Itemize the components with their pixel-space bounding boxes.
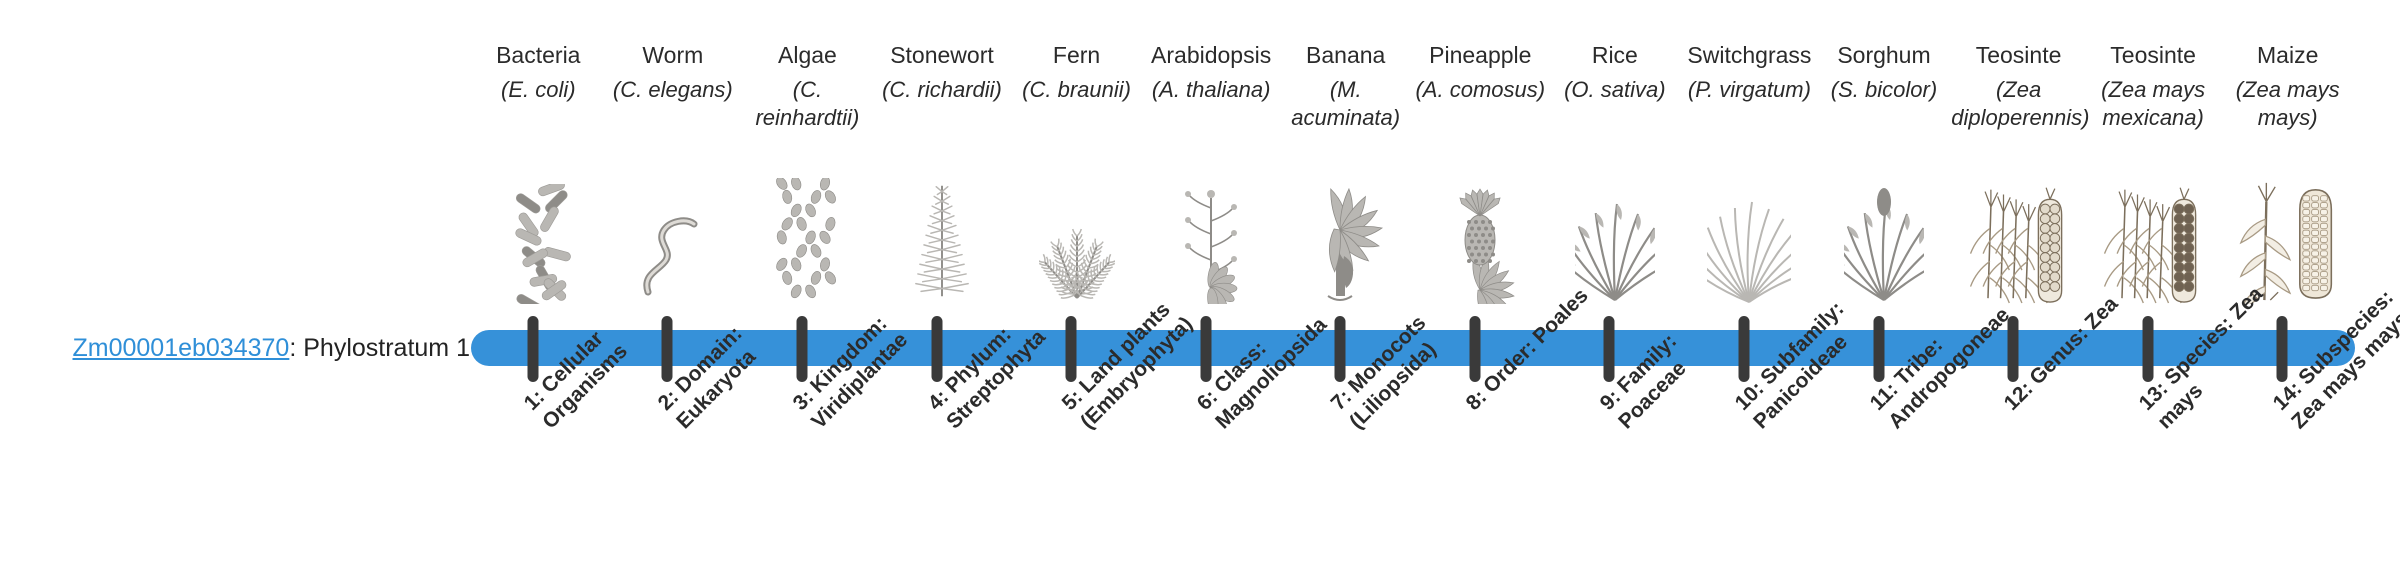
species-scientific-name: (C. braunii) xyxy=(1009,76,1144,104)
species-column-fern: Fern(C. braunii) xyxy=(1009,40,1144,104)
species-scientific-name: (S. bicolor) xyxy=(1817,76,1952,104)
species-column-rice: Rice(O. sativa) xyxy=(1548,40,1683,104)
pineapple-icon xyxy=(1413,168,1548,304)
worm-icon xyxy=(606,168,741,304)
species-scientific-name: (M. acuminata) xyxy=(1278,76,1413,132)
species-common-name: Fern xyxy=(1009,40,1144,70)
species-scientific-name: (C. reinhardtii) xyxy=(740,76,875,132)
species-column-teosinte: Teosinte(Zea diploperennis) xyxy=(1951,40,2086,132)
fern-icon xyxy=(1009,168,1144,304)
species-column-stonewort: Stonewort(C. richardii) xyxy=(875,40,1010,104)
species-common-name: Stonewort xyxy=(875,40,1010,70)
species-common-name: Worm xyxy=(606,40,741,70)
species-column-algae: Algae(C. reinhardtii) xyxy=(740,40,875,132)
phylostratum-value: Phylostratum 1 xyxy=(303,334,470,362)
species-scientific-name: (A. comosus) xyxy=(1413,76,1548,104)
species-common-name: Sorghum xyxy=(1817,40,1952,70)
species-header-row: Bacteria(E. coli)Worm(C. elegans)Algae(C… xyxy=(471,40,2355,168)
species-column-arabidopsis: Arabidopsis(A. thaliana) xyxy=(1144,40,1279,104)
species-common-name: Switchgrass xyxy=(1682,40,1817,70)
gene-phylostratum-label: Zm00001eb034370: Phylostratum 1 xyxy=(0,333,470,363)
species-column-banana: Banana(M. acuminata) xyxy=(1278,40,1413,132)
species-column-switchgrass: Switchgrass(P. virgatum) xyxy=(1682,40,1817,104)
species-column-maize: Maize(Zea mays mays) xyxy=(2220,40,2355,132)
teosinte-diploperennis-icon xyxy=(1951,168,2086,304)
species-scientific-name: (Zea mays mays) xyxy=(2220,76,2355,132)
species-column-worm: Worm(C. elegans) xyxy=(606,40,741,104)
phylostratum-timeline-chart: Zm00001eb034370: Phylostratum 1 Bacteria… xyxy=(0,0,2400,580)
arabidopsis-icon xyxy=(1144,168,1279,304)
species-common-name: Arabidopsis xyxy=(1144,40,1279,70)
maize-icon xyxy=(2220,168,2355,304)
organism-illustration-row xyxy=(471,168,2355,304)
species-common-name: Teosinte xyxy=(1951,40,2086,70)
species-column-sorghum: Sorghum(S. bicolor) xyxy=(1817,40,1952,104)
species-scientific-name: (A. thaliana) xyxy=(1144,76,1279,104)
species-scientific-name: (Zea diploperennis) xyxy=(1951,76,2086,132)
sorghum-icon xyxy=(1817,168,1952,304)
species-scientific-name: (O. sativa) xyxy=(1548,76,1683,104)
algae-icon xyxy=(740,168,875,304)
species-scientific-name: (C. richardii) xyxy=(875,76,1010,104)
bacteria-icon xyxy=(471,168,606,304)
species-scientific-name: (P. virgatum) xyxy=(1682,76,1817,104)
species-scientific-name: (E. coli) xyxy=(471,76,606,104)
species-common-name: Algae xyxy=(740,40,875,70)
species-common-name: Bacteria xyxy=(471,40,606,70)
species-common-name: Rice xyxy=(1548,40,1683,70)
species-column-pineapple: Pineapple(A. comosus) xyxy=(1413,40,1548,104)
species-scientific-name: (Zea mays mexicana) xyxy=(2086,76,2221,132)
species-common-name: Pineapple xyxy=(1413,40,1548,70)
stonewort-icon xyxy=(875,168,1010,304)
gene-id-link[interactable]: Zm00001eb034370 xyxy=(72,334,289,362)
species-column-bacteria: Bacteria(E. coli) xyxy=(471,40,606,104)
gene-phylostratum-text: : Phylostratum 1 xyxy=(289,334,470,362)
gene-label-separator: : xyxy=(289,334,303,362)
switchgrass-icon xyxy=(1682,168,1817,304)
banana-icon xyxy=(1278,168,1413,304)
species-common-name: Maize xyxy=(2220,40,2355,70)
species-common-name: Banana xyxy=(1278,40,1413,70)
species-column-teosinte: Teosinte(Zea mays mexicana) xyxy=(2086,40,2221,132)
teosinte-mexicana-icon xyxy=(2086,168,2221,304)
species-scientific-name: (C. elegans) xyxy=(606,76,741,104)
species-common-name: Teosinte xyxy=(2086,40,2221,70)
rice-icon xyxy=(1548,168,1683,304)
